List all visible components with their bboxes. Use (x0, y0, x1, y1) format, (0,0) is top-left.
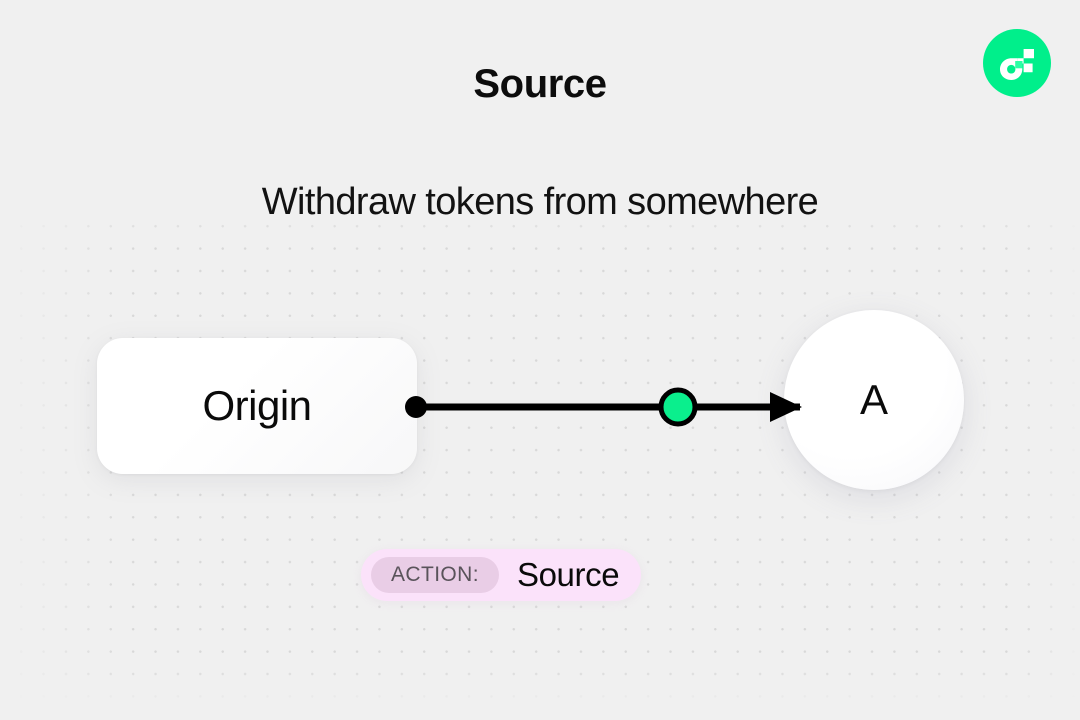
source-node[interactable]: Origin (97, 338, 417, 474)
action-badge-value: Source (517, 556, 619, 594)
edge-midpoint-dot-icon[interactable] (661, 390, 695, 424)
flow-logo-icon (983, 29, 1051, 97)
source-node-label: Origin (202, 382, 311, 430)
flow-logo-glyph (996, 42, 1038, 84)
diagram-canvas: Source Withdraw tokens from somewhere Or… (0, 0, 1080, 720)
page-title: Source (0, 62, 1080, 107)
target-node-label: A (860, 376, 888, 424)
target-node[interactable]: A (784, 310, 964, 490)
action-badge: ACTION: Source (361, 549, 641, 601)
page-subtitle: Withdraw tokens from somewhere (0, 181, 1080, 224)
action-badge-key: ACTION: (371, 557, 499, 593)
